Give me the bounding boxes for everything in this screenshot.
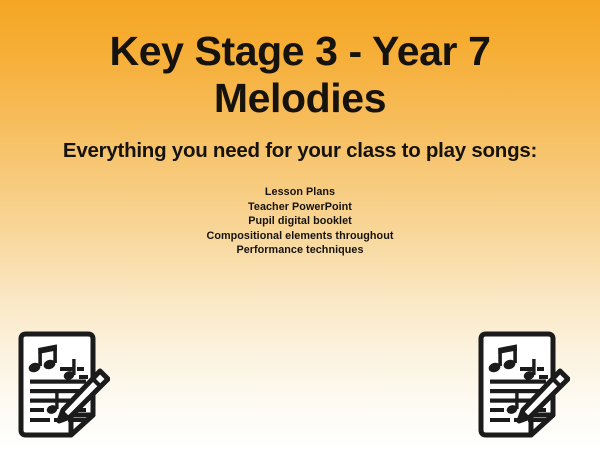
list-item: Lesson Plans xyxy=(0,185,600,200)
promo-poster: Key Stage 3 - Year 7 Melodies Everything… xyxy=(0,0,600,449)
list-item: Teacher PowerPoint xyxy=(0,200,600,215)
music-sheet-pencil-icon xyxy=(474,329,570,441)
list-item: Compositional elements throughout xyxy=(0,229,600,244)
title-line-2: Melodies xyxy=(0,75,600,122)
list-item: Pupil digital booklet xyxy=(0,214,600,229)
title-line-1: Key Stage 3 - Year 7 xyxy=(110,28,491,74)
poster-subtitle: Everything you need for your class to pl… xyxy=(0,122,600,164)
music-sheet-pencil-icon xyxy=(14,329,110,441)
list-item: Performance techniques xyxy=(0,243,600,258)
feature-list: Lesson Plans Teacher PowerPoint Pupil di… xyxy=(0,164,600,258)
page-title: Key Stage 3 - Year 7 Melodies xyxy=(0,0,600,122)
poster-text-block: Key Stage 3 - Year 7 Melodies Everything… xyxy=(0,0,600,258)
